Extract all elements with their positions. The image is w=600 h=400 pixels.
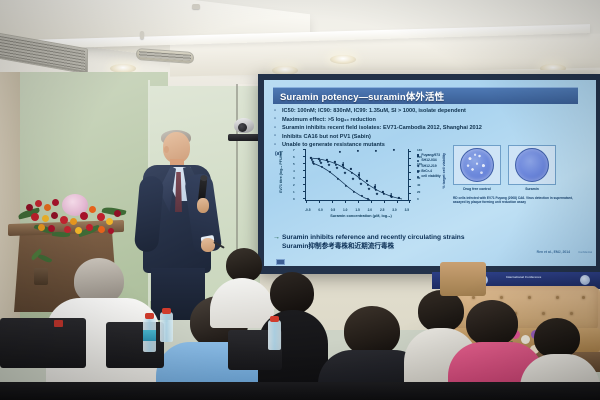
water-bottle xyxy=(268,320,281,350)
chair-back xyxy=(0,318,86,368)
video-conference-camera xyxy=(228,118,262,144)
camera-lens-icon xyxy=(238,123,247,132)
legend-marker-icon xyxy=(417,176,419,178)
dish-caption: Suramin xyxy=(508,187,556,191)
dish-assay-note: RD cells infected with EV71 Fuyang (2008… xyxy=(453,196,573,206)
water-bottle xyxy=(160,312,173,342)
chart-y-axis-label: EV71 titre (log₁₀ PFU/ml) xyxy=(279,151,283,193)
slide-credit: Ren et al., EMJ, 2014 xyxy=(537,250,570,254)
bottle-cap xyxy=(162,308,171,314)
petri-dish-icon xyxy=(460,148,494,182)
chart-x-ticks: -0.50.00.51.01.5 2.02.53.03.5 xyxy=(305,208,409,212)
front-table-edge xyxy=(0,382,600,400)
dish-image-treated xyxy=(508,145,556,185)
banner-logo-icon xyxy=(580,275,590,285)
slide-title: Suramin potency—suramin体外活性 xyxy=(273,87,578,104)
chart-fit-curve xyxy=(306,149,410,201)
chart-y-axis-label-right: % target cell viability xyxy=(442,153,446,189)
audience-head xyxy=(534,318,580,358)
chart-x-axis-label: Suramin concentration (μM, log₁₀) xyxy=(301,214,421,218)
slide-bullet: Inhibits CA16 but not PV1 (Sabin) xyxy=(273,133,590,142)
audience-head xyxy=(226,248,262,282)
slide-number-badge xyxy=(276,259,285,265)
flower-arrangement xyxy=(18,188,128,240)
audience-head xyxy=(466,300,518,346)
chair-tag xyxy=(54,320,63,327)
slide-bullet: Suramin inhibits recent field isolates: … xyxy=(273,124,590,133)
bottle-label xyxy=(143,330,156,341)
legend-marker-icon xyxy=(417,160,419,162)
banner-text: International Conference xyxy=(506,276,541,280)
camera-base xyxy=(228,134,262,141)
arrow-icon: → xyxy=(273,234,280,241)
audience-head xyxy=(270,272,314,314)
downlight-icon xyxy=(330,55,356,64)
legend-marker-icon xyxy=(417,170,419,172)
conclusion-en: Suramin inhibits reference and recently … xyxy=(282,234,464,241)
presenter-ear xyxy=(164,146,169,153)
chair-back xyxy=(440,262,486,296)
dish-row: Drug free control Suramin xyxy=(453,145,573,191)
sprinkler-icon xyxy=(192,4,200,9)
dish-image-control xyxy=(453,145,501,185)
chart-legend: Fuyang/973 SH12-034 SH12-219 BrCr-4 cell… xyxy=(417,153,441,179)
dose-response-chart: EV71 titre (log₁₀ PFU/ml) 01 23 45 67 xyxy=(277,147,445,217)
presenter-hand-upper xyxy=(197,198,209,213)
plaque-assay-panel: Drug free control Suramin RD cells infec… xyxy=(453,145,573,205)
bottle-cap xyxy=(145,313,154,319)
slide-bullet: IC50: 100nM; IC90: 830nM, IC99: 1.35uM, … xyxy=(273,107,590,116)
dish-caption: Drug free control xyxy=(453,187,501,191)
legend-marker-icon xyxy=(417,164,420,167)
legend-marker-icon xyxy=(417,154,419,156)
presentation-slide: Suramin potency—suramin体外活性 IC50: 100nM;… xyxy=(264,80,596,266)
audience-head xyxy=(344,306,400,356)
dish-item: Drug free control xyxy=(453,145,501,191)
slide-bullet: Maximum effect: >5 log₁₀ reduction xyxy=(273,116,590,125)
legend-entry: cell viability xyxy=(417,174,441,179)
ceiling-hook-icon xyxy=(140,31,144,39)
dish-item: Suramin xyxy=(508,145,556,191)
slide-footer-note: Confidential xyxy=(578,251,592,254)
projection-screen: Suramin potency—suramin体外活性 IC50: 100nM;… xyxy=(258,74,600,274)
chart-plot-area xyxy=(305,149,409,201)
conference-room-photo: Suramin potency—suramin体外活性 IC50: 100nM;… xyxy=(0,0,600,400)
petri-dish-icon xyxy=(515,148,549,182)
bottle-cap xyxy=(270,316,279,322)
